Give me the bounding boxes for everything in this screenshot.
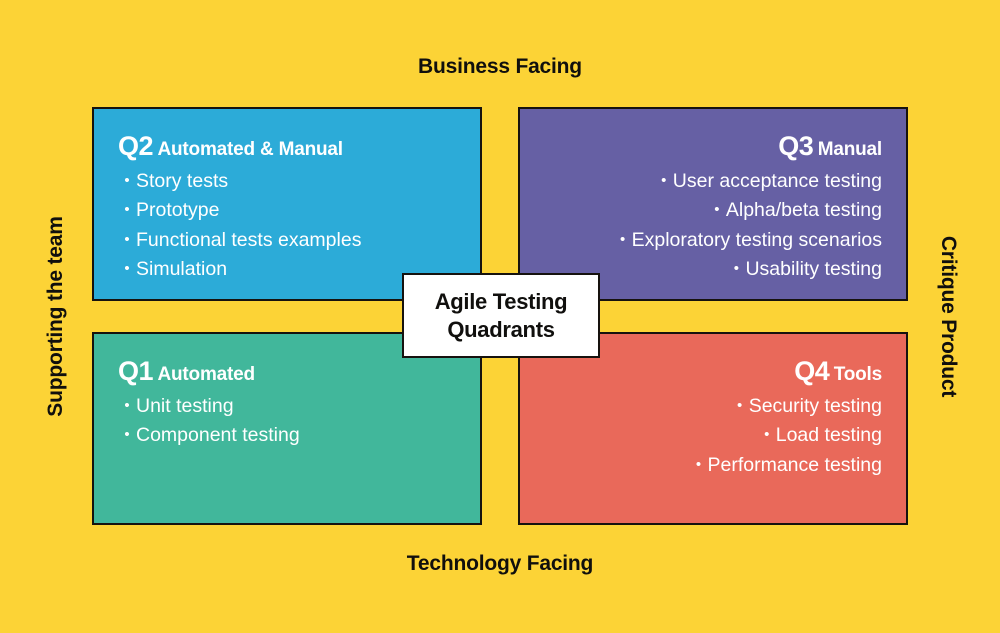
list-item: •Story tests [118,167,456,196]
list-item-label: Simulation [136,258,227,280]
quadrant-q4-list: •Security testing •Load testing •Perform… [544,392,882,480]
bullet-icon: • [655,170,673,193]
bullet-icon: • [708,199,726,222]
quadrant-q1-code: Q1 [118,356,153,386]
list-item: •Functional tests examples [118,226,456,255]
page-title: Agile Testing Quadrants [435,288,568,342]
axis-label-business-facing: Business Facing [0,55,1000,79]
list-item-label: Story tests [136,170,228,192]
quadrant-q4-code: Q4 [794,356,829,386]
list-item-label: Prototype [136,199,219,221]
list-item-label: Security testing [749,395,882,417]
list-item: •Exploratory testing scenarios [544,226,882,255]
bullet-icon: • [731,395,749,418]
bullet-icon: • [118,258,136,281]
quadrant-q1-list: •Unit testing •Component testing [118,392,456,451]
bullet-icon: • [118,229,136,252]
quadrant-q2-heading: Q2 Automated & Manual [118,131,456,161]
bullet-icon: • [614,229,632,252]
bullet-icon: • [118,170,136,193]
quadrant-q1-heading: Q1 Automated [118,356,456,386]
quadrant-q2-code: Q2 [118,131,153,161]
list-item: •Prototype [118,196,456,225]
quadrant-q4: Q4 Tools •Security testing •Load testing… [518,332,908,525]
list-item: •Load testing [544,421,882,450]
list-item: •Security testing [544,392,882,421]
bullet-icon: • [689,454,707,477]
bullet-icon: • [118,395,136,418]
list-item: •Component testing [118,421,456,450]
list-item-label: Component testing [136,424,300,446]
list-item-label: Load testing [776,424,882,446]
quadrant-q3-code: Q3 [778,131,813,161]
list-item: •Unit testing [118,392,456,421]
bullet-icon: • [758,424,776,447]
axis-label-critique-product: Critique Product [928,0,968,633]
quadrant-q4-heading: Q4 Tools [544,356,882,386]
list-item-label: Usability testing [745,258,882,280]
quadrant-q2: Q2 Automated & Manual •Story tests •Prot… [92,107,482,301]
list-item-label: Functional tests examples [136,229,361,251]
quadrant-q3-heading: Q3 Manual [544,131,882,161]
quadrant-q2-list: •Story tests •Prototype •Functional test… [118,167,456,284]
bullet-icon: • [118,424,136,447]
quadrant-q3: Q3 Manual •User acceptance testing •Alph… [518,107,908,301]
center-title-badge: Agile Testing Quadrants [402,273,600,358]
agile-testing-quadrants-diagram: Business Facing Technology Facing Suppor… [0,0,1000,633]
quadrant-q3-list: •User acceptance testing •Alpha/beta tes… [544,167,882,284]
quadrant-q3-subtitle: Manual [818,139,882,160]
page-title-line2: Quadrants [447,317,554,342]
list-item-label: Exploratory testing scenarios [632,229,882,251]
list-item-label: User acceptance testing [673,170,882,192]
bullet-icon: • [727,258,745,281]
quadrant-q2-subtitle: Automated & Manual [157,139,342,160]
axis-label-technology-facing: Technology Facing [0,552,1000,576]
quadrant-q1: Q1 Automated •Unit testing •Component te… [92,332,482,525]
list-item-label: Unit testing [136,395,234,417]
axis-label-supporting-the-team: Supporting the team [36,0,76,633]
page-title-line1: Agile Testing [435,289,568,314]
list-item-label: Alpha/beta testing [726,199,882,221]
quadrant-q4-subtitle: Tools [834,364,882,385]
list-item-label: Performance testing [707,454,882,476]
bullet-icon: • [118,199,136,222]
quadrant-q1-subtitle: Automated [157,364,254,385]
list-item: •User acceptance testing [544,167,882,196]
list-item: •Alpha/beta testing [544,196,882,225]
list-item: •Performance testing [544,451,882,480]
